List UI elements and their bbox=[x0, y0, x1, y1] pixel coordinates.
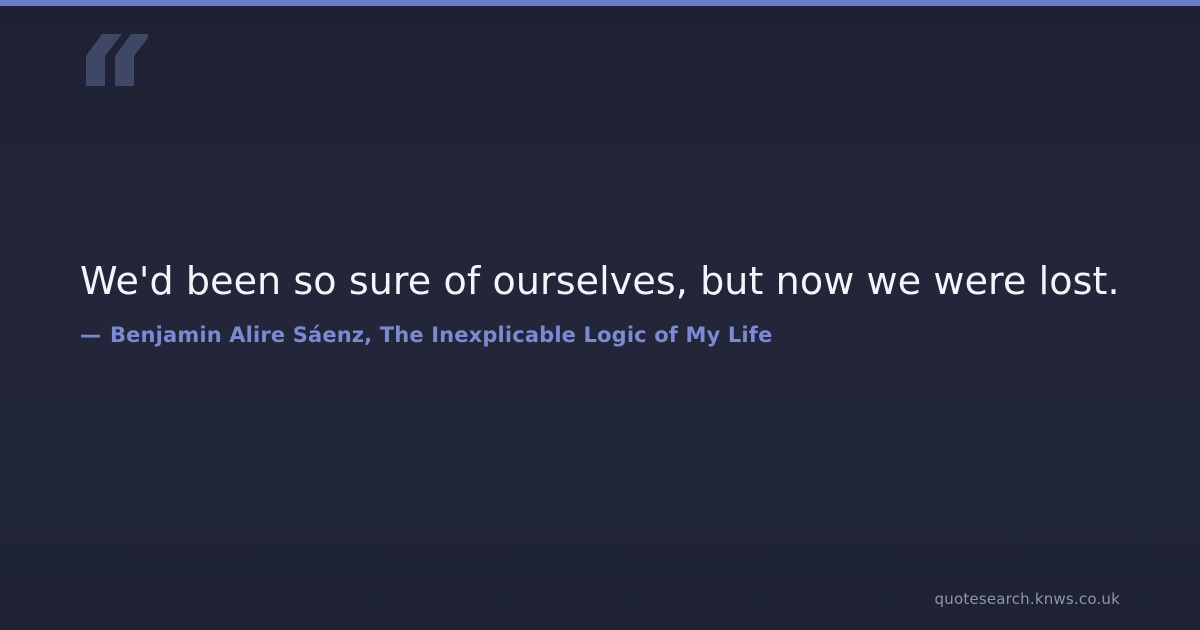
source-url-label: quotesearch.knws.co.uk bbox=[935, 590, 1120, 608]
top-accent-bar bbox=[0, 0, 1200, 6]
attribution-dash: — bbox=[80, 323, 101, 347]
quote-card: We'd been so sure of ourselves, but now … bbox=[0, 0, 1200, 630]
opening-quote-mark-icon bbox=[78, 34, 148, 86]
quote-attribution: — Benjamin Alire Sáenz, The Inexplicable… bbox=[80, 323, 772, 347]
attribution-author-and-work: Benjamin Alire Sáenz, The Inexplicable L… bbox=[110, 323, 772, 347]
quote-text: We'd been so sure of ourselves, but now … bbox=[80, 256, 1140, 306]
